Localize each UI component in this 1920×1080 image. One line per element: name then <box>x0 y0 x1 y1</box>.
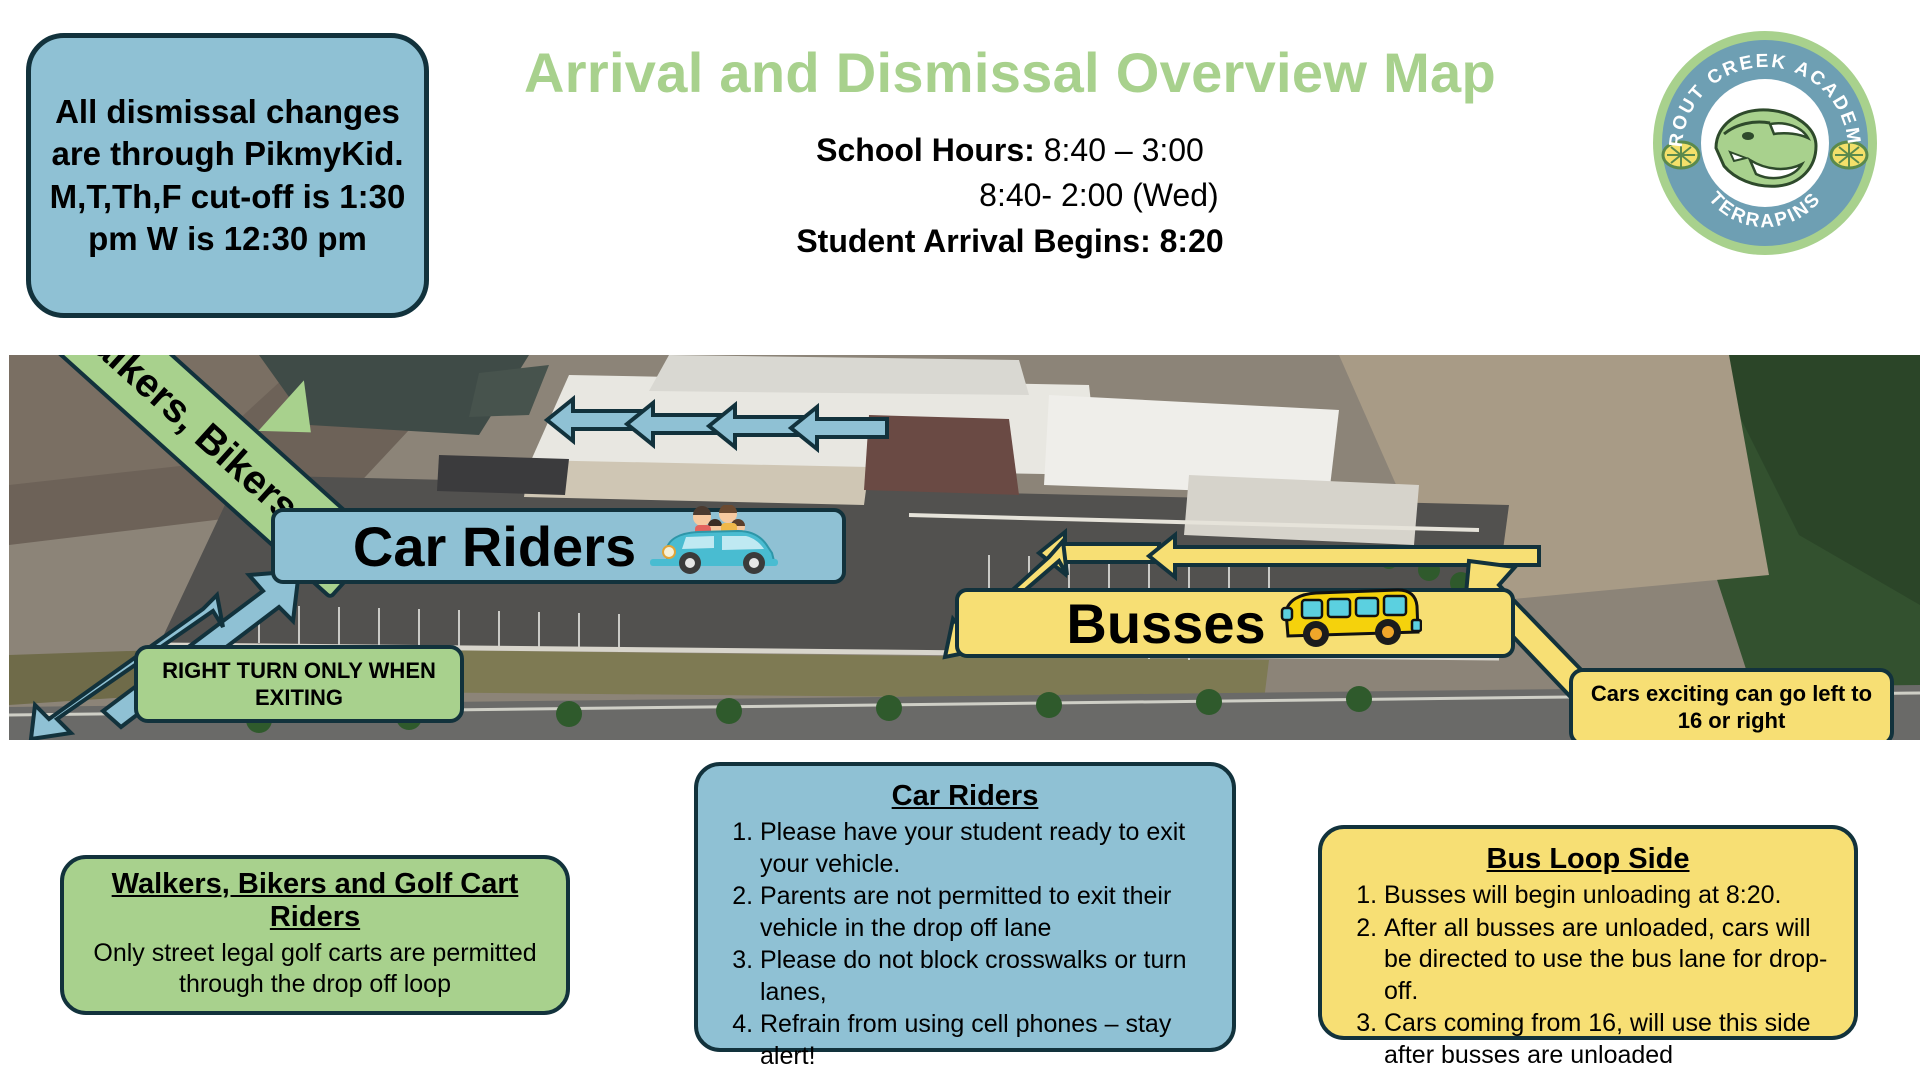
car-riders-card: Car Riders Please have your student read… <box>694 762 1236 1052</box>
list-item: Refrain from using cell phones – stay al… <box>760 1009 1212 1072</box>
arrival-value: 8:20 <box>1160 223 1224 259</box>
logo-svg: TROUT CREEK ACADEMY TERRAPINS <box>1650 28 1880 258</box>
busses-banner: Busses <box>955 588 1515 658</box>
school-bus-icon <box>1272 584 1422 663</box>
page-title: Arrival and Dismissal Overview Map <box>455 40 1565 105</box>
car-riders-card-title: Car Riders <box>718 780 1212 813</box>
car-riders-banner: Car Riders <box>271 508 846 584</box>
school-logo: TROUT CREEK ACADEMY TERRAPINS <box>1650 28 1880 258</box>
arrival-row: Student Arrival Begins: 8:20 <box>455 219 1565 264</box>
school-hours-wed-row: 8:40- 2:00 (Wed) <box>455 173 1565 218</box>
list-item: Please have your student ready to exit y… <box>760 817 1212 880</box>
walkers-card-body: Only street legal golf carts are permitt… <box>84 938 546 1001</box>
list-item: Cars coming from 16, will use this side … <box>1384 1008 1834 1071</box>
family-car-icon <box>642 505 782 588</box>
arrival-label: Student Arrival Begins: <box>796 223 1150 259</box>
school-hours-wed: 8:40- 2:00 (Wed) <box>979 177 1219 213</box>
bus-loop-card-list: Busses will begin unloading at 8:20. Aft… <box>1342 880 1834 1071</box>
dismissal-notice-callout: All dismissal changes are through PikmyK… <box>26 33 429 318</box>
aerial-campus-map: Walkers, Bikers Car Riders <box>9 355 1920 740</box>
busses-banner-label: Busses <box>1066 591 1265 656</box>
list-item: Please do not block crosswalks or turn l… <box>760 945 1212 1008</box>
car-flow-arrow-4 <box>791 405 887 451</box>
car-riders-banner-label: Car Riders <box>353 514 636 579</box>
right-turn-only-note: RIGHT TURN ONLY WHEN EXITING <box>134 645 464 723</box>
cars-exiting-note: Cars exciting can go left to 16 or right <box>1569 668 1894 740</box>
bus-loop-card-title: Bus Loop Side <box>1342 843 1834 876</box>
dismissal-notice-text: All dismissal changes are through PikmyK… <box>31 91 424 260</box>
car-riders-card-list: Please have your student ready to exit y… <box>718 817 1212 1072</box>
walkers-card-title: Walkers, Bikers and Golf Cart Riders <box>84 868 546 934</box>
walkers-bikers-golfcart-card: Walkers, Bikers and Golf Cart Riders Onl… <box>60 855 570 1015</box>
school-hours-label: School Hours: <box>816 132 1035 168</box>
school-hours-value: 8:40 – 3:00 <box>1044 132 1204 168</box>
cars-exiting-note-text: Cars exciting can go left to 16 or right <box>1583 680 1880 735</box>
school-hours-row: School Hours: 8:40 – 3:00 <box>455 128 1565 173</box>
list-item: After all busses are unloaded, cars will… <box>1384 913 1834 1008</box>
school-hours-block: School Hours: 8:40 – 3:00 8:40- 2:00 (We… <box>455 128 1565 264</box>
list-item: Parents are not permitted to exit their … <box>760 881 1212 944</box>
bus-loop-side-card: Bus Loop Side Busses will begin unloadin… <box>1318 825 1858 1040</box>
header: All dismissal changes are through PikmyK… <box>0 0 1920 345</box>
right-turn-only-note-text: RIGHT TURN ONLY WHEN EXITING <box>148 657 450 712</box>
list-item: Busses will begin unloading at 8:20. <box>1384 880 1834 912</box>
